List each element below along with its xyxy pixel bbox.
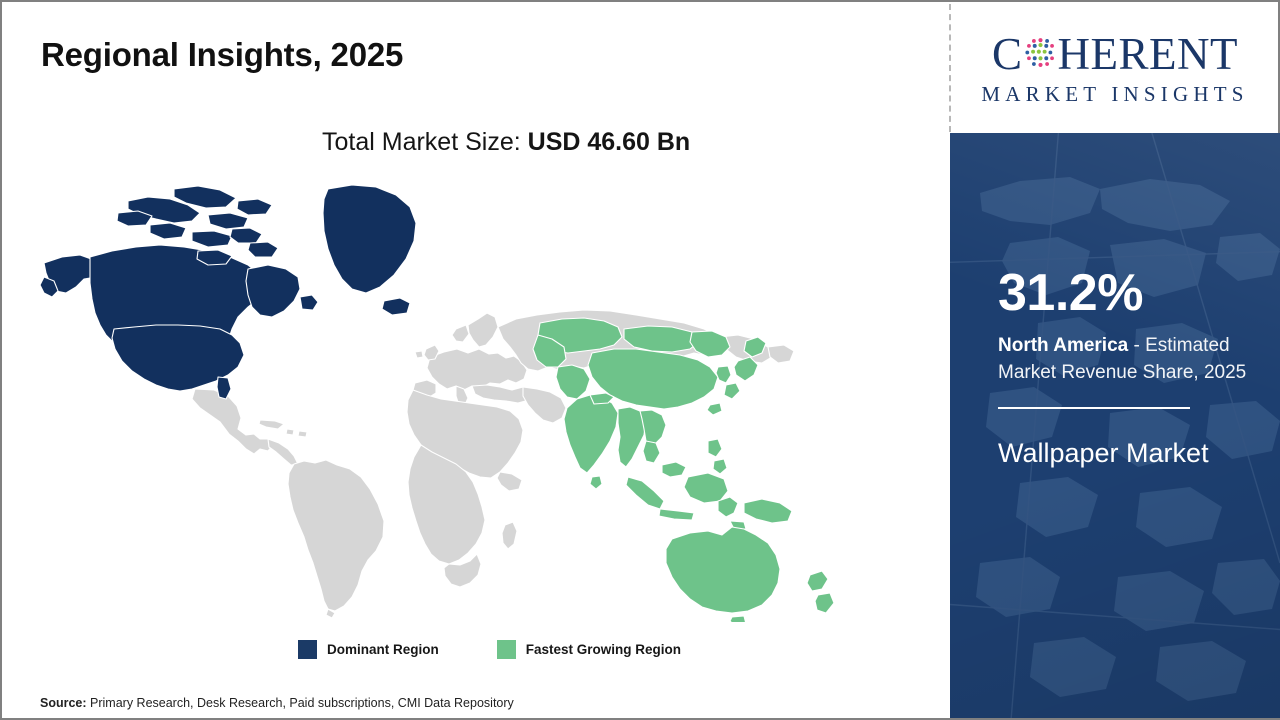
market-size-label: Total Market Size: xyxy=(322,128,528,156)
panel-content: 31.2% North America - Estimated Market R… xyxy=(998,267,1252,472)
legend-label-fastest-growing: Fastest Growing Region xyxy=(526,642,681,657)
map-dominant-regions xyxy=(40,185,416,399)
panel-divider-rule xyxy=(998,407,1190,409)
source-label: Source: xyxy=(40,696,87,710)
market-size-value: USD 46.60 Bn xyxy=(528,128,691,156)
regional-insights-slide: Regional Insights, 2025 Total Market Siz… xyxy=(0,0,1280,720)
legend-label-dominant: Dominant Region xyxy=(327,642,439,657)
green-square-icon xyxy=(497,640,516,659)
left-content-pane: Regional Insights, 2025 Total Market Siz… xyxy=(2,2,950,718)
region-name: North America xyxy=(998,335,1128,356)
source-note: Source: Primary Research, Desk Research,… xyxy=(40,696,514,710)
vertical-dashed-divider xyxy=(949,4,951,132)
page-title: Regional Insights, 2025 xyxy=(41,36,403,74)
logo-letters-herent: HERENT xyxy=(1058,32,1238,77)
navy-square-icon xyxy=(298,640,317,659)
regional-stat-panel: 31.2% North America - Estimated Market R… xyxy=(950,133,1280,718)
revenue-share-percentage: 31.2% xyxy=(998,267,1252,319)
market-name: Wallpaper Market xyxy=(998,435,1248,472)
coherent-market-insights-logo: C xyxy=(964,20,1266,116)
logo-subtitle: MARKET INSIGHTS xyxy=(981,82,1248,107)
logo-letter-c: C xyxy=(992,32,1023,77)
revenue-share-description: North America - Estimated Market Revenue… xyxy=(998,333,1252,387)
source-text: Primary Research, Desk Research, Paid su… xyxy=(87,696,514,710)
logo-wordmark: C xyxy=(992,30,1238,80)
legend-item-dominant: Dominant Region xyxy=(298,640,439,659)
legend-item-fastest-growing: Fastest Growing Region xyxy=(497,640,681,659)
globe-dots-icon xyxy=(1024,36,1057,69)
map-legend: Dominant Region Fastest Growing Region xyxy=(298,640,681,659)
total-market-size: Total Market Size: USD 46.60 Bn xyxy=(322,128,690,157)
world-map[interactable] xyxy=(32,177,852,622)
